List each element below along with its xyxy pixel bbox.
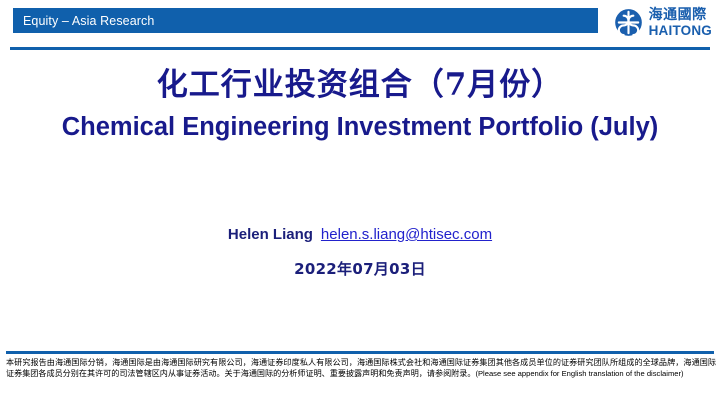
disclaimer-english: (Please see appendix for English transla…	[475, 369, 683, 378]
haitong-emblem-icon	[613, 7, 644, 38]
author-name: Helen Liang	[228, 226, 313, 243]
author-email-link[interactable]: helen.s.liang@htisec.com	[321, 226, 492, 243]
haitong-logo-text: 海通國際 HAITONG	[649, 8, 712, 38]
publication-date: 2022年07月03日	[0, 258, 720, 279]
haitong-logo: 海通國際 HAITONG	[613, 7, 712, 38]
header-banner: Equity – Asia Research	[13, 8, 198, 33]
page-header: Equity – Asia Research 海通國際 HAITONG	[0, 0, 720, 52]
header-banner-fill	[198, 8, 598, 33]
header-banner-label: Equity – Asia Research	[13, 14, 154, 28]
title-block: 化工行业投资组合（7月份） Chemical Engineering Inves…	[0, 68, 720, 142]
haitong-logo-chinese: 海通國際	[649, 8, 712, 22]
haitong-logo-english: HAITONG	[649, 24, 712, 38]
page-title-english: Chemical Engineering Investment Portfoli…	[0, 112, 720, 142]
author-line: Helen Lianghelen.s.liang@htisec.com	[0, 226, 720, 244]
header-divider	[10, 47, 710, 50]
disclaimer-block: 本研究报告由海通国际分销，海通国际是由海通国际研究有限公司，海通证券印度私人有限…	[6, 357, 716, 380]
footer-divider	[6, 351, 714, 354]
page-title-chinese: 化工行业投资组合（7月份）	[0, 68, 720, 104]
